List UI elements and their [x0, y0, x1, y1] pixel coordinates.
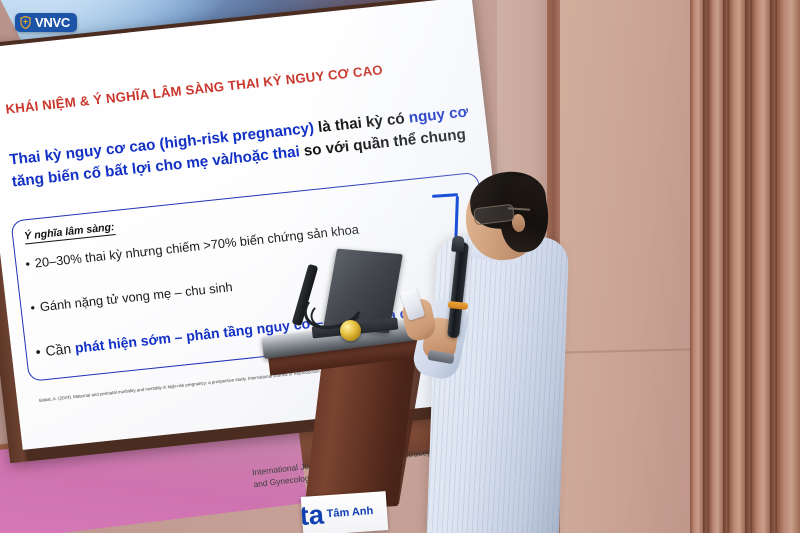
wall-slat: [752, 0, 770, 533]
shirt-stripes: [427, 234, 569, 533]
wall-panel-right: [560, 0, 690, 533]
vnvc-wordmark: VNVC: [35, 16, 70, 29]
podium-sign-mark: ta: [301, 503, 325, 529]
podium-sign: ta Tâm Anh: [301, 491, 389, 533]
screenshot-root: KHÁI NIỆM & Ý NGHĨA LÂM SÀNG THAI KỲ NGU…: [0, 0, 800, 533]
wall-slat: [709, 0, 723, 533]
bullet-marker: •: [30, 300, 36, 315]
bullet-marker: •: [25, 256, 31, 271]
podium-sign-brand: Tâm Anh: [326, 506, 373, 520]
shield-icon: [20, 16, 31, 29]
wall-slat-dark: [745, 0, 752, 533]
wall-slat: [777, 0, 800, 533]
slide-body-line1-c: nguy cơ: [408, 103, 469, 126]
wall-slat: [729, 0, 745, 533]
vnvc-watermark-logo: VNVC: [15, 13, 77, 32]
podium-emblem-icon: [340, 320, 361, 341]
wall-slat: [690, 0, 703, 533]
bullet-marker: •: [35, 344, 42, 360]
wall-slat-dark: [770, 0, 777, 533]
microphone-head: [451, 235, 465, 252]
slide-title: KHÁI NIỆM & Ý NGHĨA LÂM SÀNG THAI KỲ NGU…: [5, 56, 444, 117]
bullet-prefix: Cần: [45, 340, 76, 359]
